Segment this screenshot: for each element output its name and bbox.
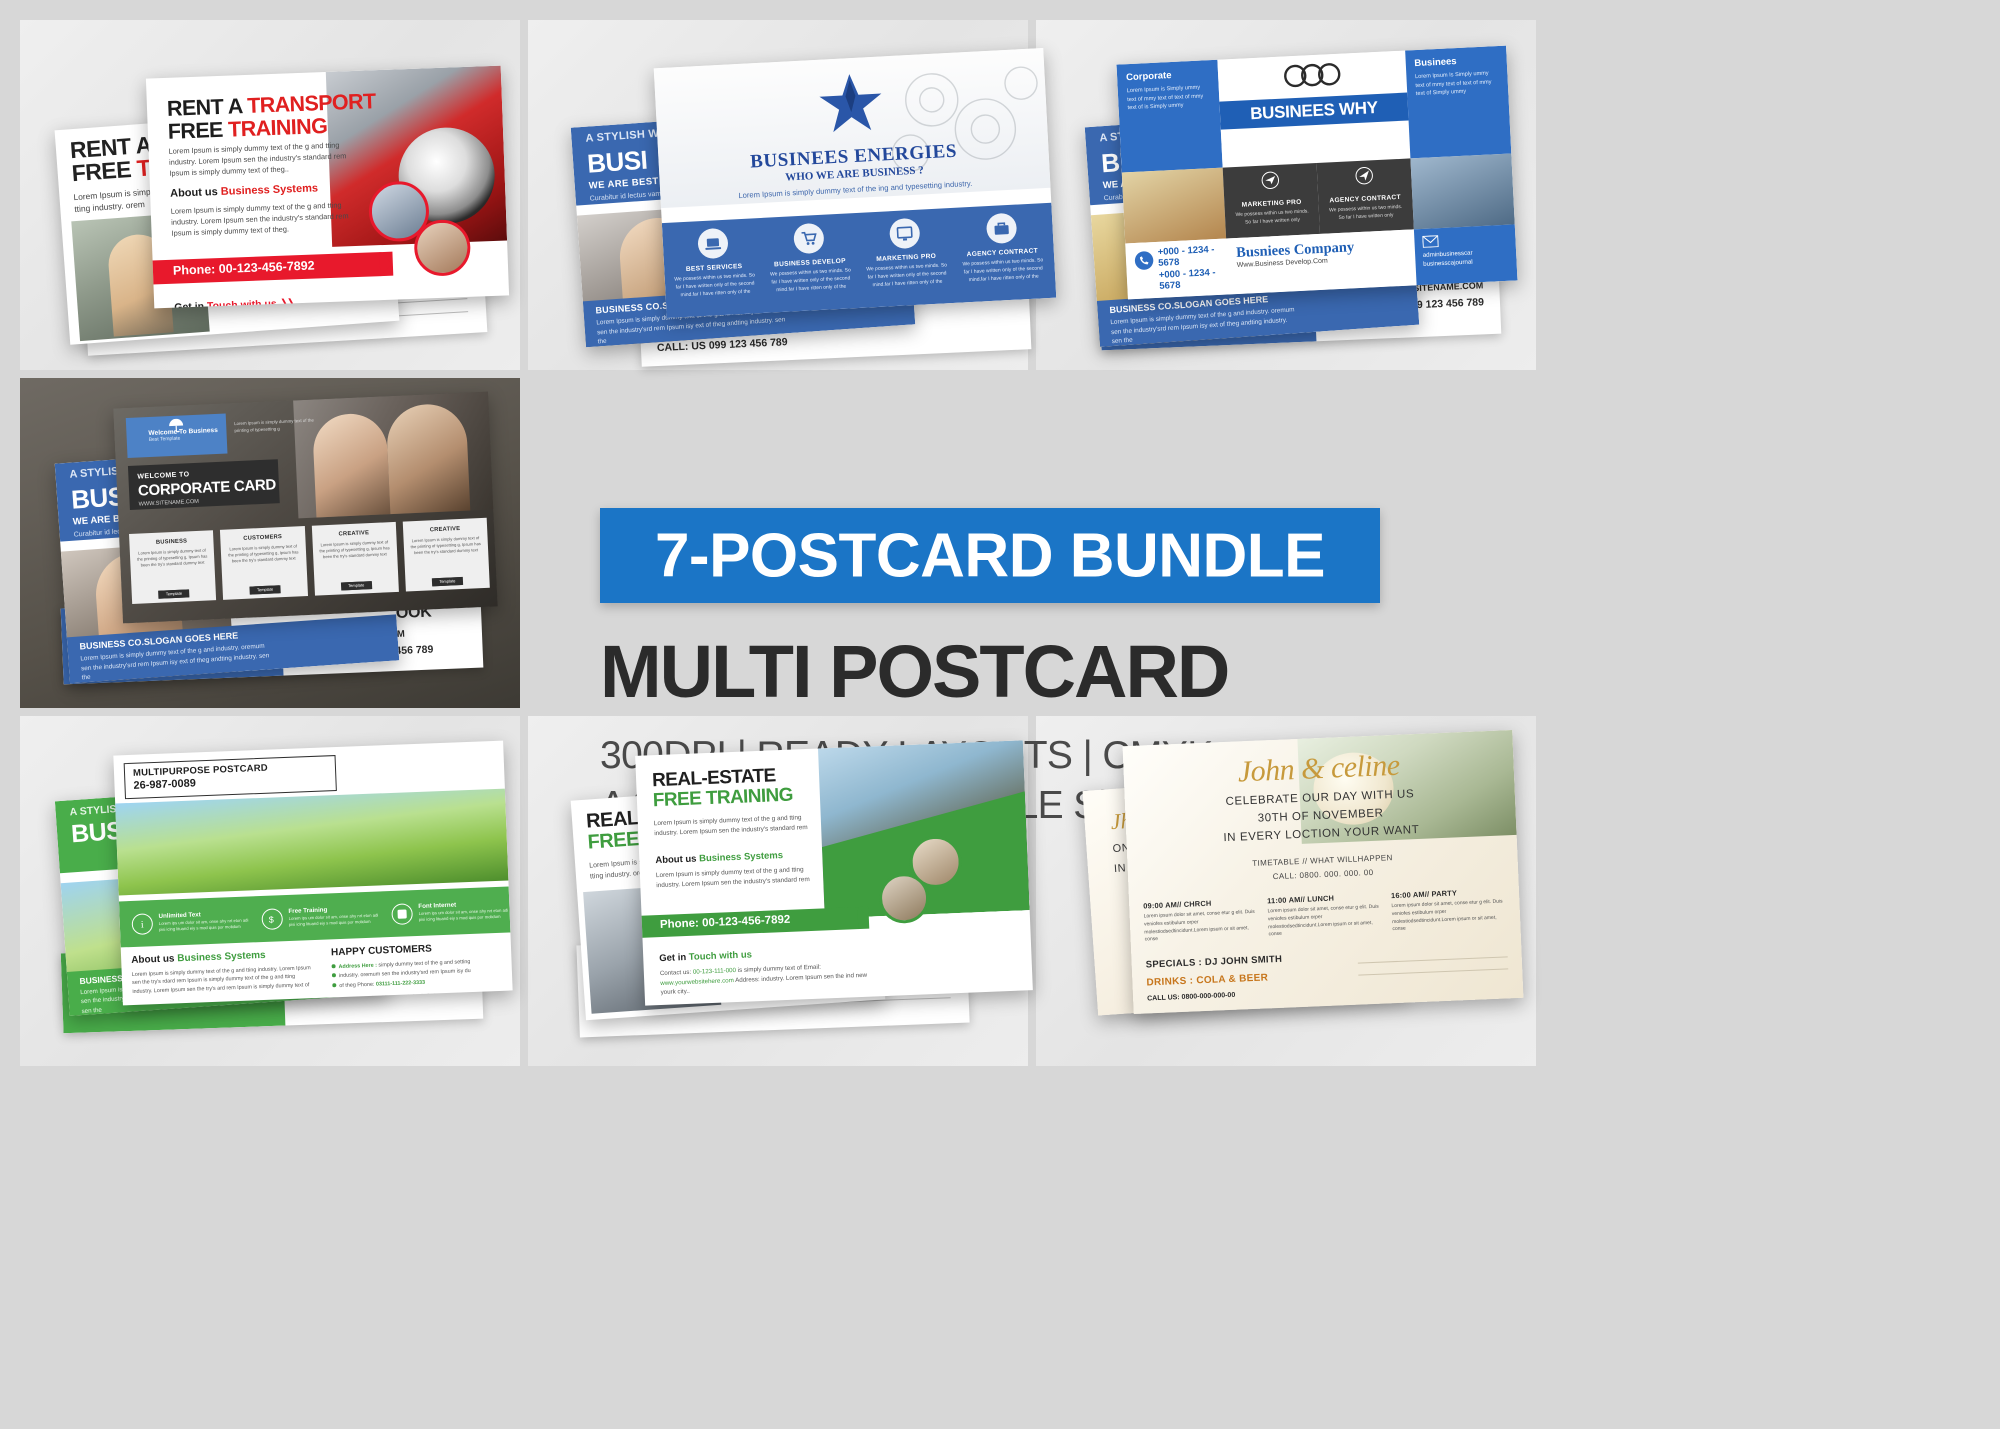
card-title: REAL-ESTATEFREE TRAINING [652, 766, 793, 812]
welcome-label-box: WELCOME TO CORPORATE CARD WWW.SITENAME.C… [128, 459, 280, 510]
dollar-icon: $ [261, 908, 283, 930]
mail-icon [1422, 234, 1439, 253]
info-icon: i [131, 913, 153, 935]
feature-col-4: AGENCY CONTRACT We possess within us two… [952, 211, 1051, 285]
call-bottom-text: CALL US: 0800-000-000-00 [1147, 992, 1235, 1003]
welcome-badge: Welcome To Business Best Template [126, 414, 228, 458]
bubble-photo-2 [878, 872, 930, 924]
tile-button[interactable]: Template [432, 577, 463, 587]
feature-col-2: BUSINESS DEVELOP We possess within us tw… [760, 221, 859, 295]
bubble-photo-2 [413, 219, 471, 277]
tile-1: WE AREBUSINESS Lorem Ipsum is simply dum… [129, 530, 216, 604]
bullet-icon [332, 974, 336, 978]
card-multipurpose-front: MULTIPURPOSE POSTCARD 26-987-0089 i Unli… [113, 741, 512, 1006]
about-heading: About us Business Systems [170, 182, 318, 199]
phone-ribbon: Phone: 00-123-456-7892 [635, 907, 869, 938]
specials-text: SPECIALS : DJ JOHN SMITH [1146, 954, 1283, 971]
card-corporate-front: Corporate Lorem Ipsum is Simply ummy tex… [1116, 46, 1517, 300]
about-body: Lorem Ipsum is simply dummy text of the … [656, 865, 822, 891]
briefcase-icon [985, 213, 1017, 245]
header-box: MULTIPURPOSE POSTCARD 26-987-0089 [124, 755, 337, 799]
man-photo-right [1410, 154, 1515, 229]
feature-2: $ Free TrainingLorem ips um dolor sit am… [249, 891, 381, 942]
agency-contract-panel: AGENCY CONTRACT We possess within us two… [1317, 159, 1414, 234]
feature-col-3: MARKETING PRO We possess within us two m… [856, 216, 955, 290]
features-bar: i Unlimited TextLorem ips um dolor sit a… [119, 886, 510, 947]
logo-panel: BUSINEES WHY [1218, 51, 1410, 168]
bundle-badge: 7-POSTCARD BUNDLE [600, 508, 1380, 603]
corporate-panel: Corporate Lorem Ipsum is Simply ummy tex… [1116, 60, 1223, 173]
postcard-bundle-preview: Looks Brighter About Us Address Here : s… [0, 0, 2000, 1429]
back-small: A STYLISH W [585, 128, 659, 145]
umbrella-icon [168, 418, 185, 433]
phone-icon [1134, 250, 1155, 276]
send-icon [1223, 169, 1318, 197]
feature-3: Font InternetLorem ips um dolor sit am, … [379, 886, 511, 937]
happy-body: Address Here : simply dummy text of the … [331, 957, 507, 992]
about-heading: About us Business Systems [131, 950, 266, 966]
card-realestate-front: REAL-ESTATEFREE TRAINING Lorem Ipsum is … [635, 740, 1033, 1005]
logo-text: BUSINEES WHY [1220, 93, 1408, 130]
cart-icon [793, 223, 825, 255]
about-heading: About us Business Systems [655, 850, 783, 866]
feature-1: i Unlimited TextLorem ips um dolor sit a… [119, 896, 251, 947]
about-body: Lorem Ipsum is simply dummy text of the … [132, 964, 313, 996]
card-wedding-front: John & celine CELEBRATE OUR DAY WITH US … [1123, 730, 1524, 1014]
tile-button[interactable]: Template [250, 585, 281, 595]
back-big: BUSI [586, 145, 648, 180]
card-welcome-front: Welcome To Business Best Template Lorem … [113, 392, 497, 624]
tile-button[interactable]: Template [159, 589, 190, 599]
feature-col-1: BEST SERVICES We possess within us two m… [664, 226, 763, 300]
contact-body: Contact us: 00-123-111-000 is simply dum… [660, 960, 876, 997]
monitor-icon [889, 218, 921, 250]
marketing-pro-panel: MARKETING PRO We possess within us two m… [1223, 163, 1320, 238]
back-title: RENT AFREE T [69, 133, 154, 186]
businees-panel: Businees Lorem Ipsum Is Simply ummy text… [1405, 46, 1512, 159]
about-body: Lorem Ipsum is simply dummy text of the … [171, 199, 352, 239]
puzzle-icon [391, 903, 413, 925]
rings-logo-icon [1277, 60, 1348, 89]
phone-panel: +000 - 1234 - 5678 +000 - 1234 - 5678 [1125, 238, 1229, 299]
svg-text:i: i [141, 919, 144, 930]
bullet-icon [332, 964, 336, 968]
field-photo [115, 789, 508, 896]
address-rules [1358, 956, 1509, 986]
tiles-row: WE AREBUSINESS Lorem Ipsum is simply dum… [129, 518, 490, 604]
touch-heading: Get in Touch with us [659, 949, 752, 964]
star-icon [816, 70, 885, 135]
tile-button[interactable]: Template [341, 581, 372, 591]
card-lead: Lorem Ipsum is simply dummy text of the … [168, 139, 349, 179]
card-lead: Lorem Ipsum is simply dummy text of the … [654, 813, 820, 839]
card-energies-front: BUSINEES ENERGIES WHO WE ARE BUSINESS ? … [654, 48, 1057, 318]
paper-plane-icon [1317, 165, 1412, 193]
tile-3: WE ARECREATIVE Lorem Ipsum is simply dum… [311, 522, 398, 596]
laptop-icon [697, 228, 729, 260]
schedule-item-3: 16:00 AM// PARTY Lorem ipsum dolor sit a… [1391, 886, 1507, 934]
bullet-icon [332, 983, 336, 987]
main-title: MULTI POSTCARD [600, 635, 1380, 709]
woman-photo-left [1122, 168, 1227, 243]
svg-text:$: $ [269, 914, 274, 924]
phone-ribbon: Phone: 00-123-456-7892 [146, 252, 393, 285]
tile-2: HAPPYCUSTOMERS Lorem Ipsum is simply dum… [220, 526, 307, 600]
card-transport-front: RENT A TRANSPORT FREE TRAINING Lorem Ips… [146, 66, 509, 309]
card-title: RENT A TRANSPORT FREE TRAINING [167, 90, 377, 143]
schedule-row: 09:00 AM// CHRCH Lorem ipsum dolor sit a… [1143, 886, 1506, 944]
schedule-item-2: 11:00 AM// LUNCH Lorem ipsum dolor sit a… [1267, 892, 1383, 940]
tile-4: WE ARECREATIVE Lorem Ipsum is simply dum… [402, 518, 489, 592]
couple-photo [293, 392, 493, 519]
happy-heading: HAPPY CUSTOMERS [331, 944, 432, 959]
bundle-badge-label: 7-POSTCARD BUNDLE [655, 520, 1325, 591]
company-panel: Busniees Company Www.Business Develop.Co… [1226, 229, 1416, 294]
front-top: BUSINEES ENERGIES WHO WE ARE BUSINESS ? … [654, 48, 1051, 208]
email-panel: adminbusinesscar businesscajournal [1413, 224, 1517, 285]
schedule-item-1: 09:00 AM// CHRCH Lorem ipsum dolor sit a… [1143, 897, 1259, 945]
drinks-text: DRINKS : COLA & BEER [1146, 972, 1268, 988]
